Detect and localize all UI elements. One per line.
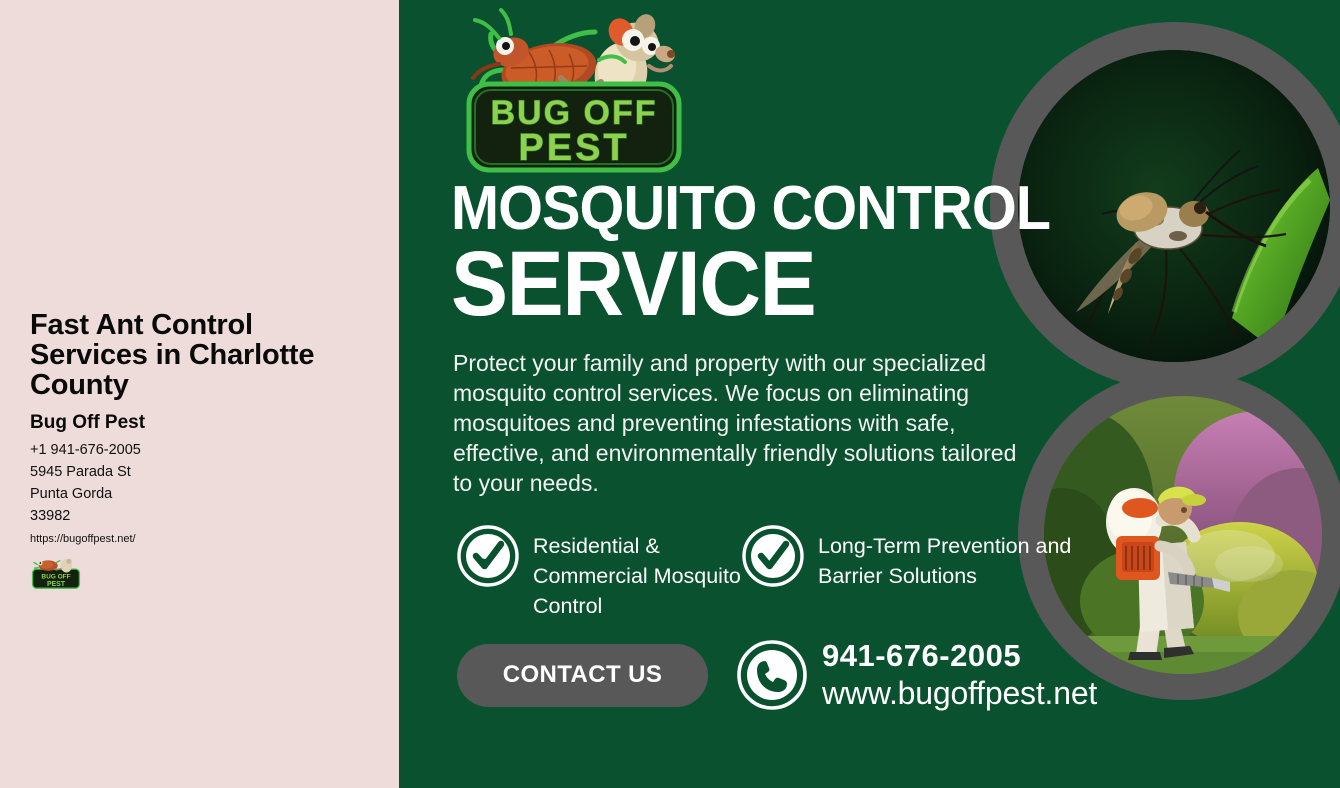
feature-label: Residential & Commercial Mosquito Contro… bbox=[533, 527, 757, 621]
poster-page: Fast Ant Control Services in Charlotte C… bbox=[0, 0, 1340, 788]
promo-poster: BUG OFF PEST MOSQUITO CONTROL SERVICE Pr… bbox=[399, 0, 1340, 788]
left-info-panel: Fast Ant Control Services in Charlotte C… bbox=[0, 0, 399, 788]
svg-text:BUG OFF: BUG OFF bbox=[41, 574, 70, 581]
feature-label: Long-Term Prevention and Barrier Solutio… bbox=[818, 527, 1072, 591]
headline-line-2: SERVICE bbox=[451, 242, 1009, 326]
technician-spraying-photo bbox=[1044, 396, 1322, 674]
description-paragraph: Protect your family and property with ou… bbox=[453, 348, 1028, 498]
bug-off-pest-mini-logo-icon: BUG OFF PEST bbox=[30, 556, 82, 590]
contact-us-button[interactable]: CONTACT US bbox=[457, 644, 708, 707]
business-phone: +1 941-676-2005 bbox=[30, 440, 370, 460]
business-city: Punta Gorda bbox=[30, 484, 370, 504]
business-name: Bug Off Pest bbox=[30, 412, 370, 434]
svg-text:PEST: PEST bbox=[47, 581, 66, 588]
contact-details: 941-676-2005 www.bugoffpest.net bbox=[822, 638, 1097, 712]
phone-circle-icon[interactable] bbox=[736, 639, 808, 711]
page-title: Fast Ant Control Services in Charlotte C… bbox=[30, 310, 370, 400]
check-circle-icon bbox=[457, 525, 519, 587]
feature-item: Long-Term Prevention and Barrier Solutio… bbox=[742, 527, 1072, 591]
business-street: 5945 Parada St bbox=[30, 462, 370, 482]
business-zip: 33982 bbox=[30, 506, 370, 526]
contact-website[interactable]: www.bugoffpest.net bbox=[822, 674, 1097, 712]
bug-off-pest-logo: BUG OFF PEST bbox=[459, 8, 689, 176]
check-circle-icon bbox=[742, 525, 804, 587]
feature-item: Residential & Commercial Mosquito Contro… bbox=[457, 527, 757, 621]
mosquito-photo bbox=[1018, 50, 1330, 362]
logo-line2: PEST bbox=[518, 127, 629, 169]
contact-row: CONTACT US 941-676-2005 www.bugoffpest.n… bbox=[457, 638, 1097, 712]
contact-phone[interactable]: 941-676-2005 bbox=[822, 638, 1097, 674]
business-website-link[interactable]: https://bugoffpest.net/ bbox=[30, 530, 370, 548]
headline-block: MOSQUITO CONTROL SERVICE bbox=[451, 178, 1051, 326]
business-info-block: Fast Ant Control Services in Charlotte C… bbox=[30, 310, 370, 548]
headline-line-1: MOSQUITO CONTROL bbox=[451, 178, 1009, 240]
